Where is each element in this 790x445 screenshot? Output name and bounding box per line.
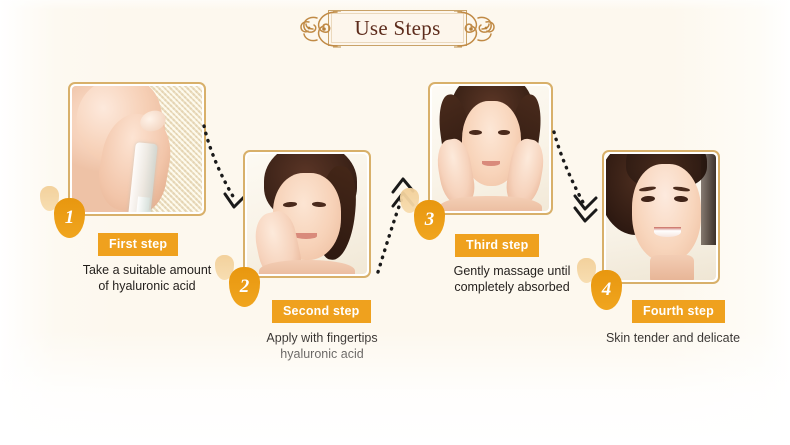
step-2-chip: Second step	[272, 300, 371, 323]
title-banner: Use Steps	[295, 4, 500, 54]
step-3-chip: Third step	[455, 234, 539, 257]
arrow-step3-to-step4	[548, 128, 610, 233]
step-2-caption: Apply with fingertips hyaluronic acid	[227, 330, 417, 362]
ornament-flourish-left-icon	[293, 4, 345, 54]
page-title: Use Steps	[328, 10, 467, 46]
step-4-caption: Skin tender and delicate	[578, 330, 768, 346]
step-2-photo	[243, 150, 371, 278]
step-1-caption: Take a suitable amount of hyaluronic aci…	[52, 262, 242, 294]
step-2-number: 2	[229, 267, 260, 307]
ornament-flourish-right-icon	[450, 4, 502, 54]
use-steps-infographic: Use Steps	[0, 0, 790, 445]
droplet-badge-icon: 1	[54, 198, 85, 238]
step-4-number: 4	[591, 270, 622, 310]
step-3-number: 3	[414, 200, 445, 240]
step-4-chip: Fourth step	[632, 300, 725, 323]
droplet-badge-icon: 2	[229, 267, 260, 307]
step-1-chip: First step	[98, 233, 178, 256]
droplet-badge-icon: 4	[591, 270, 622, 310]
step-1-photo	[68, 82, 206, 216]
droplet-badge-icon: 3	[414, 200, 445, 240]
step-1-number: 1	[54, 198, 85, 238]
step-3-photo	[428, 82, 553, 215]
step-4-photo	[602, 150, 720, 284]
